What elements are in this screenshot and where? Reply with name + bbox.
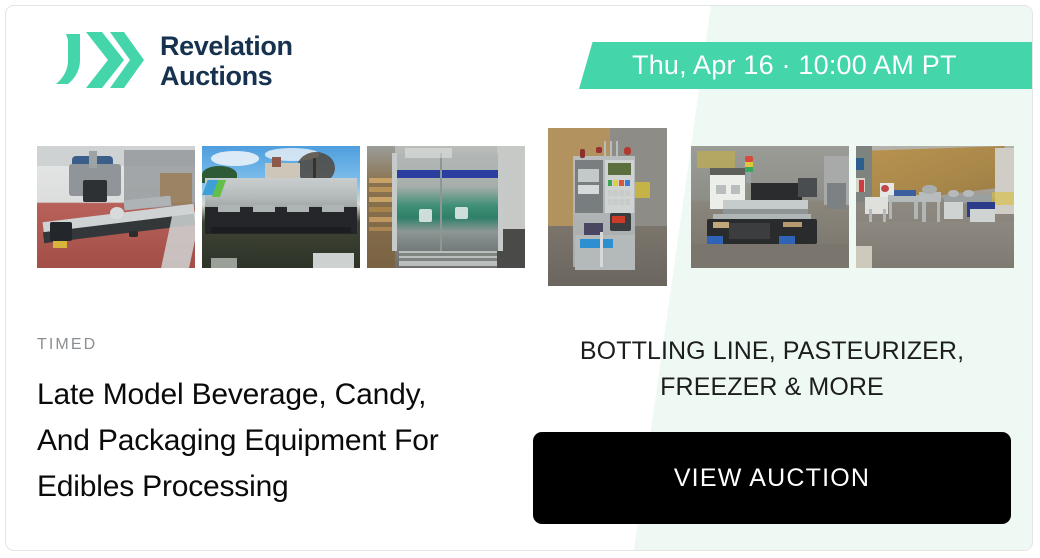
gallery-thumbnail[interactable] xyxy=(367,146,525,268)
gallery-thumbnail[interactable] xyxy=(37,146,195,268)
auction-lot-summary: BOTTLING LINE, PASTEURIZER, FREEZER & MO… xyxy=(526,334,1018,405)
gallery-thumbnail[interactable] xyxy=(548,128,667,286)
brand-wordmark-line1: Revelation xyxy=(160,31,293,61)
view-auction-button[interactable]: VIEW AUCTION xyxy=(533,432,1011,524)
triple-chevron-icon xyxy=(50,30,146,92)
brand-logo[interactable]: RevelationAuctions xyxy=(50,30,293,92)
thumbnail-image-6 xyxy=(856,146,1014,268)
thumbnail-image-1 xyxy=(37,146,195,268)
auction-cta-panel: BOTTLING LINE, PASTEURIZER, FREEZER & MO… xyxy=(526,334,1018,524)
thumbnail-image-2 xyxy=(202,146,360,268)
thumbnail-image-5 xyxy=(691,146,849,268)
auction-title: Late Model Beverage, Candy, And Packagin… xyxy=(37,372,457,510)
thumbnail-image-4 xyxy=(548,128,667,286)
brand-wordmark: RevelationAuctions xyxy=(160,31,293,91)
auction-type-badge: TIMED xyxy=(37,336,457,354)
auction-promo-card: RevelationAuctions Thu, Apr 16 · 10:00 A… xyxy=(5,5,1033,551)
gallery-thumbnail[interactable] xyxy=(691,146,849,268)
gallery-thumbnail[interactable] xyxy=(202,146,360,268)
thumbnail-image-3 xyxy=(367,146,525,268)
brand-wordmark-line2: Auctions xyxy=(160,61,272,91)
gallery-thumbnail[interactable] xyxy=(856,146,1014,268)
auction-date-text: Thu, Apr 16 · 10:00 AM PT xyxy=(579,50,957,81)
auction-details: TIMED Late Model Beverage, Candy, And Pa… xyxy=(37,336,457,510)
header: RevelationAuctions Thu, Apr 16 · 10:00 A… xyxy=(6,6,1032,118)
auction-date-banner: Thu, Apr 16 · 10:00 AM PT xyxy=(579,42,1033,89)
